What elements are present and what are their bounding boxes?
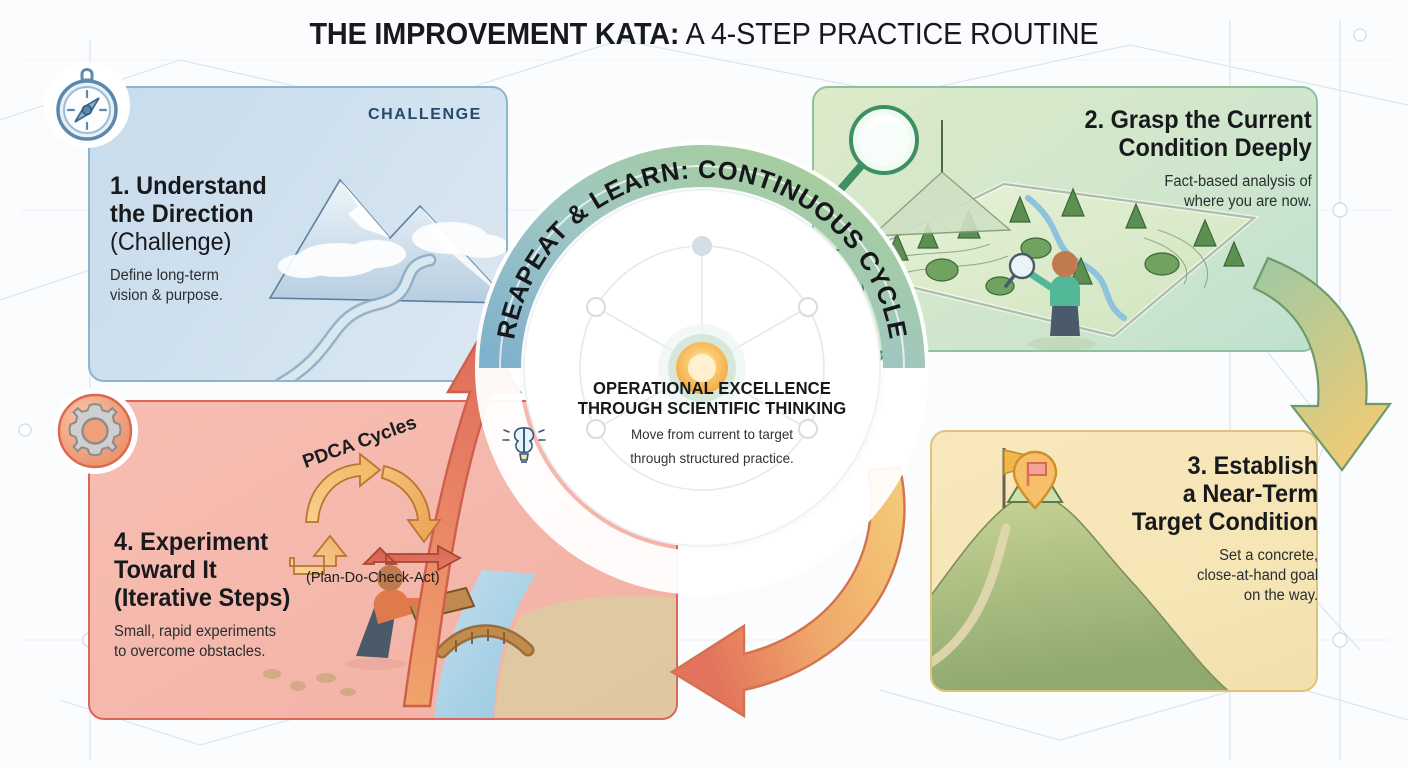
panel1-heading-line2: the Direction	[110, 200, 267, 228]
panel3-heading-line1: 3. Establish	[1132, 452, 1318, 480]
badge-gear	[52, 388, 138, 474]
arrow-grasp-to-target	[1254, 258, 1390, 470]
hub-title-line1: OPERATIONAL EXCELLENCE	[570, 378, 855, 398]
panel2-text-block: 2. Grasp the Current Condition Deeply Fa…	[1070, 106, 1312, 212]
panel2-heading-line1: 2. Grasp the Current	[1085, 106, 1312, 134]
panel1-subheading: (Challenge)	[110, 228, 267, 256]
panel4-heading-line2: Toward It	[114, 556, 290, 584]
hub-text-block: OPERATIONAL EXCELLENCE THROUGH SCIENTIFI…	[562, 378, 862, 468]
panel3-desc: Set a concrete,close-at-hand goalon the …	[1130, 546, 1318, 606]
panel3-text-block: 3. Establish a Near-Term Target Conditio…	[1120, 452, 1318, 606]
hub-title-line2: THROUGH SCIENTIFIC THINKING	[570, 398, 855, 418]
continuous-cycle-ring: REAPEAT & LEARN: CONTINUOUS CYCLE	[452, 118, 952, 618]
panel3-heading-line3: Target Condition	[1132, 508, 1318, 536]
panel4-heading-line1: 4. Experiment	[114, 528, 290, 556]
panel1-heading-line1: 1. Understand	[110, 172, 267, 200]
panel1-text-block: 1. Understand the Direction (Challenge) …	[110, 172, 277, 306]
panel4-text-block: 4. Experiment Toward It (Iterative Steps…	[114, 528, 302, 662]
pdca-caption: (Plan-Do-Check-Act)	[306, 570, 440, 586]
panel4-subheading: (Iterative Steps)	[114, 584, 290, 612]
hub-desc-line2: through structured practice.	[568, 450, 856, 468]
panel3-heading-line2: a Near-Term	[1132, 480, 1318, 508]
hub-desc-line1: Move from current to target	[568, 426, 856, 444]
panel1-desc: Define long-termvision & purpose.	[110, 266, 268, 306]
gear-icon	[54, 390, 136, 472]
compass-icon	[48, 66, 126, 144]
panel4-desc: Small, rapid experimentsto overcome obst…	[114, 622, 292, 662]
panel2-heading-line2: Condition Deeply	[1085, 134, 1312, 162]
panel2-desc: Fact-based analysis ofwhere you are now.	[1082, 172, 1312, 212]
badge-compass	[44, 62, 130, 148]
